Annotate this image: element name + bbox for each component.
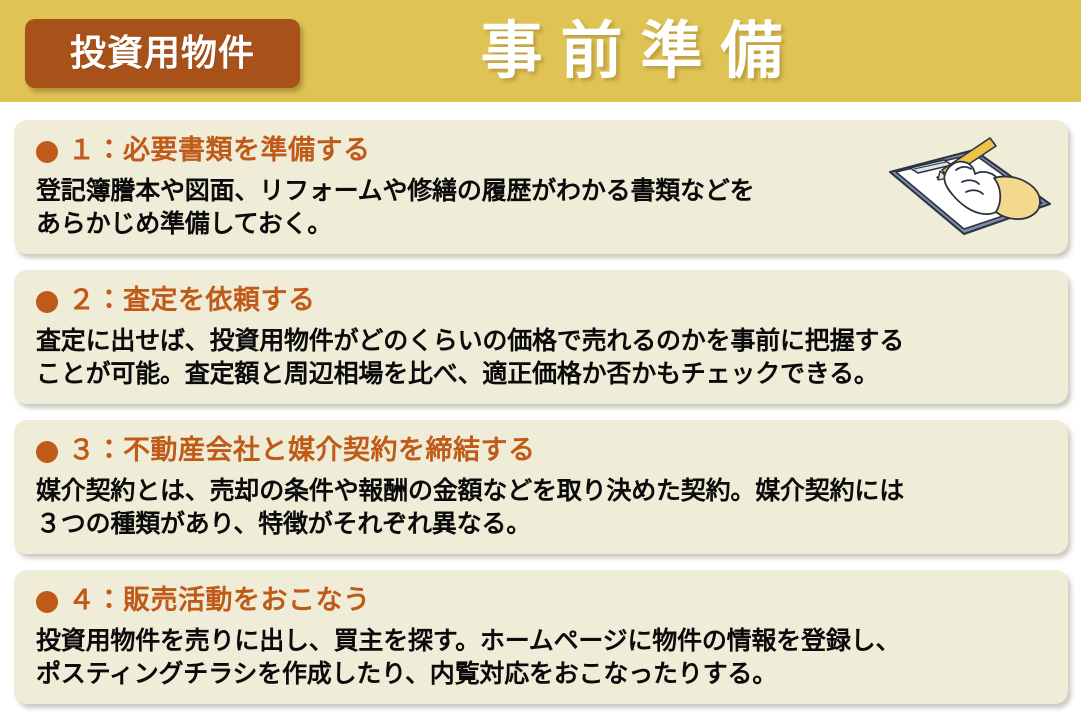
- category-badge-label: 投資用物件: [70, 36, 255, 72]
- page-header: 投資用物件 事前準備: [0, 0, 1081, 102]
- step-4-title: ４：販売活動をおこなう: [68, 586, 371, 616]
- step-3-body-line-2: ３つの種類があり、特徴がそれぞれ異なる。: [36, 507, 1048, 540]
- step-card-4: ４：販売活動をおこなう 投資用物件を売りに出し、買主を探す。ホームページに物件の…: [14, 570, 1068, 704]
- step-3-body: 媒介契約とは、売却の条件や報酬の金額などを取り決めた契約。媒介契約には ３つの種…: [36, 474, 1048, 540]
- bullet-circle-icon: [36, 291, 58, 313]
- step-2-body-line-1: 査定に出せば、投資用物件がどのくらいの価格で売れるのかを事前に把握する: [36, 324, 1048, 357]
- bullet-circle-icon: [36, 441, 58, 463]
- step-card-1: １：必要書類を準備する 登記簿謄本や図面、リフォームや修繕の履歴がわかる書類など…: [14, 120, 1068, 254]
- step-1-body-line-1: 登記簿謄本や図面、リフォームや修繕の履歴がわかる書類などを: [36, 174, 896, 207]
- bullet-circle-icon: [36, 591, 58, 613]
- step-4-body-line-1: 投資用物件を売りに出し、買主を探す。ホームページに物件の情報を登録し、: [36, 624, 1048, 657]
- step-4-heading: ４：販売活動をおこなう: [36, 582, 1048, 620]
- step-3-title: ３：不動産会社と媒介契約を締結する: [68, 436, 536, 466]
- step-2-title: ２：査定を依頼する: [68, 286, 316, 316]
- clipboard-writing-illustration: [882, 130, 1054, 242]
- step-2-body-line-2: ことが可能。査定額と周辺相場を比べ、適正価格か否かもチェックできる。: [36, 357, 1048, 390]
- step-2-body: 査定に出せば、投資用物件がどのくらいの価格で売れるのかを事前に把握する ことが可…: [36, 324, 1048, 390]
- steps-list: １：必要書類を準備する 登記簿謄本や図面、リフォームや修繕の履歴がわかる書類など…: [0, 102, 1081, 714]
- infographic-page: 投資用物件 事前準備 １：必要書類を準備する 登記簿謄本や図面、リフォームや修繕…: [0, 0, 1081, 700]
- step-card-2: ２：査定を依頼する 査定に出せば、投資用物件がどのくらいの価格で売れるのかを事前…: [14, 270, 1068, 404]
- step-4-body-line-2: ポスティングチラシを作成したり、内覧対応をおこなったりする。: [36, 657, 1048, 690]
- category-badge: 投資用物件: [25, 19, 300, 88]
- step-4-body: 投資用物件を売りに出し、買主を探す。ホームページに物件の情報を登録し、 ポスティ…: [36, 624, 1048, 690]
- step-2-heading: ２：査定を依頼する: [36, 282, 1048, 320]
- step-3-heading: ３：不動産会社と媒介契約を締結する: [36, 432, 1048, 470]
- bullet-circle-icon: [36, 141, 58, 163]
- step-1-body-line-2: あらかじめ準備しておく。: [36, 207, 896, 240]
- step-1-title: １：必要書類を準備する: [68, 136, 371, 166]
- step-3-body-line-1: 媒介契約とは、売却の条件や報酬の金額などを取り決めた契約。媒介契約には: [36, 474, 1048, 507]
- step-1-body: 登記簿謄本や図面、リフォームや修繕の履歴がわかる書類などを あらかじめ準備してお…: [36, 174, 896, 240]
- page-title-text: 事前準備: [480, 20, 800, 82]
- step-card-3: ３：不動産会社と媒介契約を締結する 媒介契約とは、売却の条件や報酬の金額などを取…: [14, 420, 1068, 554]
